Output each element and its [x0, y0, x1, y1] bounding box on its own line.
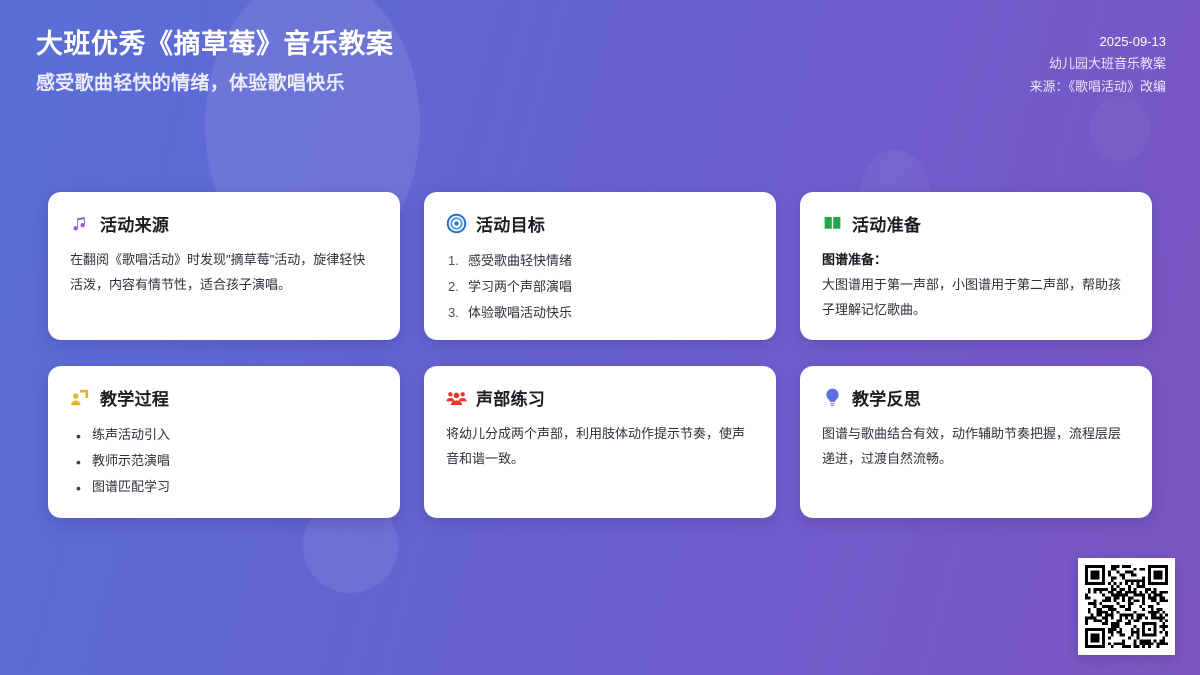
header-meta: 2025-09-13 幼儿园大班音乐教案 来源：《歌唱活动》改编	[1029, 31, 1166, 98]
poster-header: 大班优秀《摘草莓》音乐教案 感受歌曲轻快的情绪，体验歌唱快乐 2025-09-1…	[0, 0, 1200, 175]
card-activity-goals[interactable]: 活动目标 感受歌曲轻快情绪 学习两个声部演唱 体验歌唱活动快乐	[424, 192, 776, 340]
target-icon	[446, 213, 467, 234]
card-title: 声部练习	[476, 385, 545, 410]
open-book-icon	[822, 213, 843, 234]
list-item: 练声活动引入	[70, 422, 378, 448]
card-title: 活动来源	[100, 211, 169, 236]
card-header: 教学过程	[70, 385, 378, 410]
list-item: 学习两个声部演唱	[446, 274, 754, 300]
card-header: 活动来源	[70, 211, 378, 236]
page-title: 大班优秀《摘草莓》音乐教案	[36, 26, 394, 63]
list-item: 图谱匹配学习	[70, 474, 378, 500]
card-body: 在翻阅《歌唱活动》时发现"摘草莓"活动，旋律轻快活泼，内容有情节性，适合孩子演唱…	[70, 248, 378, 298]
list-item: 体验歌唱活动快乐	[446, 300, 754, 326]
card-grid: 活动来源 在翻阅《歌唱活动》时发现"摘草莓"活动，旋律轻快活泼，内容有情节性，适…	[48, 192, 1152, 518]
goals-list: 感受歌曲轻快情绪 学习两个声部演唱 体验歌唱活动快乐	[446, 248, 754, 326]
header-category: 幼儿园大班音乐教案	[1029, 53, 1166, 75]
preparation-label: 图谱准备：	[822, 248, 1130, 273]
header-text-block: 大班优秀《摘草莓》音乐教案 感受歌曲轻快的情绪，体验歌唱快乐	[36, 26, 394, 95]
list-item: 感受歌曲轻快情绪	[446, 248, 754, 274]
card-title: 活动目标	[476, 211, 545, 236]
card-title: 教学反思	[852, 385, 921, 410]
qr-code[interactable]	[1078, 558, 1175, 655]
card-title: 活动准备	[852, 211, 921, 236]
card-title: 教学过程	[100, 385, 169, 410]
card-header: 教学反思	[822, 385, 1130, 410]
header-source: 来源：《歌唱活动》改编	[1029, 76, 1166, 98]
list-item: 教师示范演唱	[70, 448, 378, 474]
lightbulb-icon	[822, 387, 843, 408]
card-teaching-reflection[interactable]: 教学反思 图谱与歌曲结合有效，动作辅助节奏把握，流程层层递进，过渡自然流畅。	[800, 366, 1152, 518]
poster-canvas: 大班优秀《摘草莓》音乐教案 感受歌曲轻快的情绪，体验歌唱快乐 2025-09-1…	[0, 0, 1200, 675]
header-date: 2025-09-13	[1029, 31, 1166, 53]
page-subtitle: 感受歌曲轻快的情绪，体验歌唱快乐	[36, 68, 394, 95]
card-header: 声部练习	[446, 385, 754, 410]
card-body: 大图谱用于第一声部，小图谱用于第二声部，帮助孩子理解记忆歌曲。	[822, 273, 1130, 323]
card-voice-part-practice[interactable]: 声部练习 将幼儿分成两个声部，利用肢体动作提示节奏，使声音和谐一致。	[424, 366, 776, 518]
process-list: 练声活动引入 教师示范演唱 图谱匹配学习	[70, 422, 378, 500]
card-body: 图谱与歌曲结合有效，动作辅助节奏把握，流程层层递进，过渡自然流畅。	[822, 422, 1130, 472]
card-header: 活动准备	[822, 211, 1130, 236]
card-activity-source[interactable]: 活动来源 在翻阅《歌唱活动》时发现"摘草莓"活动，旋律轻快活泼，内容有情节性，适…	[48, 192, 400, 340]
people-group-icon	[446, 387, 467, 408]
card-activity-preparation[interactable]: 活动准备 图谱准备： 大图谱用于第一声部，小图谱用于第二声部，帮助孩子理解记忆歌…	[800, 192, 1152, 340]
music-note-icon	[70, 213, 91, 234]
card-teaching-process[interactable]: 教学过程 练声活动引入 教师示范演唱 图谱匹配学习	[48, 366, 400, 518]
teacher-presentation-icon	[70, 387, 91, 408]
qr-code-image	[1085, 565, 1168, 648]
card-header: 活动目标	[446, 211, 754, 236]
card-body: 将幼儿分成两个声部，利用肢体动作提示节奏，使声音和谐一致。	[446, 422, 754, 472]
